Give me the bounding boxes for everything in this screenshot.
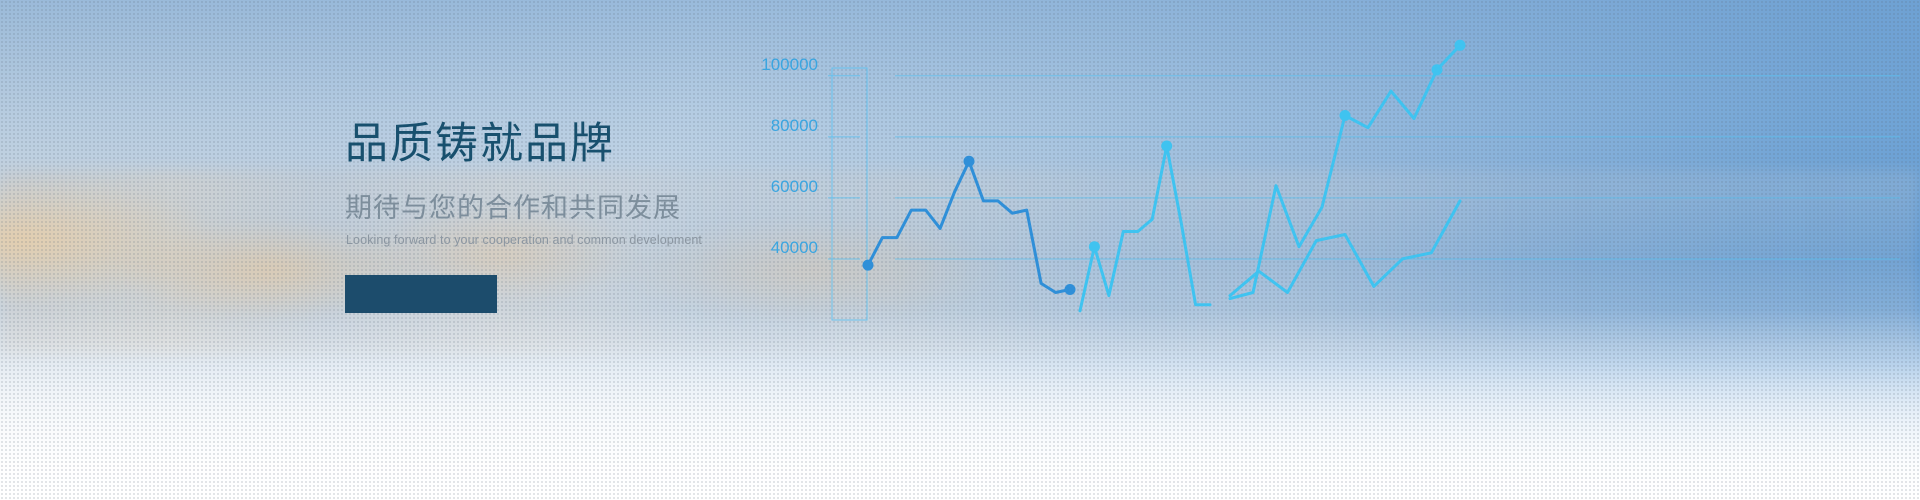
y-tick-label: 60000 (771, 177, 818, 196)
data-marker (1065, 284, 1076, 295)
y-tick-label: 100000 (761, 55, 818, 74)
line-chart-canvas: 100000800006000040000 (740, 0, 1920, 500)
series-line-series-1 (868, 161, 1070, 292)
line-chart: 100000800006000040000 (740, 0, 1920, 500)
series-line-series-3 (1230, 45, 1460, 298)
data-marker (1455, 40, 1466, 51)
chart-gridlines (828, 76, 1900, 259)
chart-axis-frame (832, 68, 867, 320)
series-line-series-4 (1230, 201, 1460, 296)
data-marker (1432, 64, 1443, 75)
banner-cta-button[interactable] (345, 275, 497, 313)
axis-rect (832, 68, 867, 320)
hero-banner: 品质铸就品牌 期待与您的合作和共同发展 Looking forward to y… (0, 0, 1920, 500)
chart-series (868, 45, 1460, 311)
data-marker (1340, 110, 1351, 121)
chart-y-tick-labels: 100000800006000040000 (761, 55, 818, 257)
data-marker (1089, 241, 1100, 252)
chart-data-markers (863, 40, 1466, 295)
data-marker (964, 156, 975, 167)
series-line-series-2 (1080, 146, 1210, 311)
data-marker (1161, 141, 1172, 152)
data-marker (863, 260, 874, 271)
y-tick-label: 80000 (771, 116, 818, 135)
y-tick-label: 40000 (771, 238, 818, 257)
